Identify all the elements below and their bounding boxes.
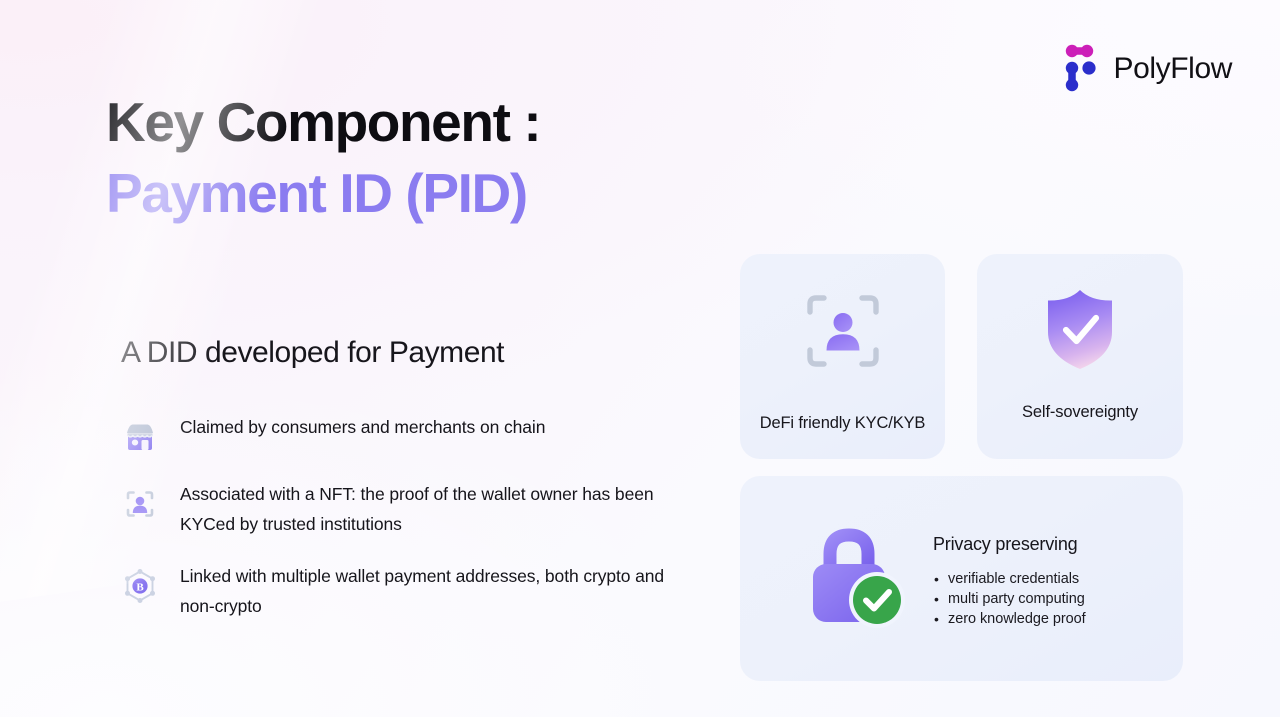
list-item-label: Associated with a NFT: the proof of the … — [180, 479, 680, 539]
feature-list: Claimed by consumers and merchants on ch… — [120, 412, 680, 643]
section-subtitle: A DID developed for Payment — [121, 336, 504, 370]
privacy-content: Privacy preserving verifiable credential… — [933, 534, 1086, 629]
page-title: Key Component : Payment ID (PID) — [106, 95, 540, 221]
brand-wordmark: PolyFlow — [1114, 54, 1233, 84]
svg-text:B: B — [136, 581, 144, 593]
list-item: verifiable credentials — [933, 569, 1086, 589]
face-scan-icon — [120, 484, 160, 524]
face-scan-icon — [804, 292, 882, 370]
card-self-sovereignty: Self-sovereignty — [977, 254, 1183, 459]
card-label: Self-sovereignty — [977, 403, 1183, 422]
privacy-bullet-list: verifiable credentials multi party compu… — [933, 569, 1086, 629]
page-title-line1: Key Component : — [106, 95, 540, 150]
page-title-line2: Payment ID (PID) — [106, 166, 540, 221]
list-item: B Linked with multiple wallet payment ad… — [120, 561, 680, 621]
brand-logo: PolyFlow — [1063, 44, 1233, 94]
polyflow-node-logo-icon — [1063, 44, 1101, 94]
list-item-label: Claimed by consumers and merchants on ch… — [180, 412, 545, 442]
storefront-icon — [120, 417, 160, 457]
list-item: Claimed by consumers and merchants on ch… — [120, 412, 680, 457]
card-label: DeFi friendly KYC/KYB — [740, 414, 945, 433]
slide-canvas: PolyFlow Key Component : Payment ID (PID… — [0, 0, 1280, 717]
card-privacy-preserving: Privacy preserving verifiable credential… — [740, 476, 1183, 681]
card-defi-kyc: DeFi friendly KYC/KYB — [740, 254, 945, 459]
shield-check-icon — [1041, 286, 1119, 372]
card-title: Privacy preserving — [933, 534, 1086, 555]
list-item-label: Linked with multiple wallet payment addr… — [180, 561, 680, 621]
list-item: Associated with a NFT: the proof of the … — [120, 479, 680, 539]
list-item: zero knowledge proof — [933, 609, 1086, 629]
lock-check-icon — [800, 524, 910, 629]
bitcoin-hexagon-node-icon: B — [120, 566, 160, 606]
list-item: multi party computing — [933, 589, 1086, 609]
